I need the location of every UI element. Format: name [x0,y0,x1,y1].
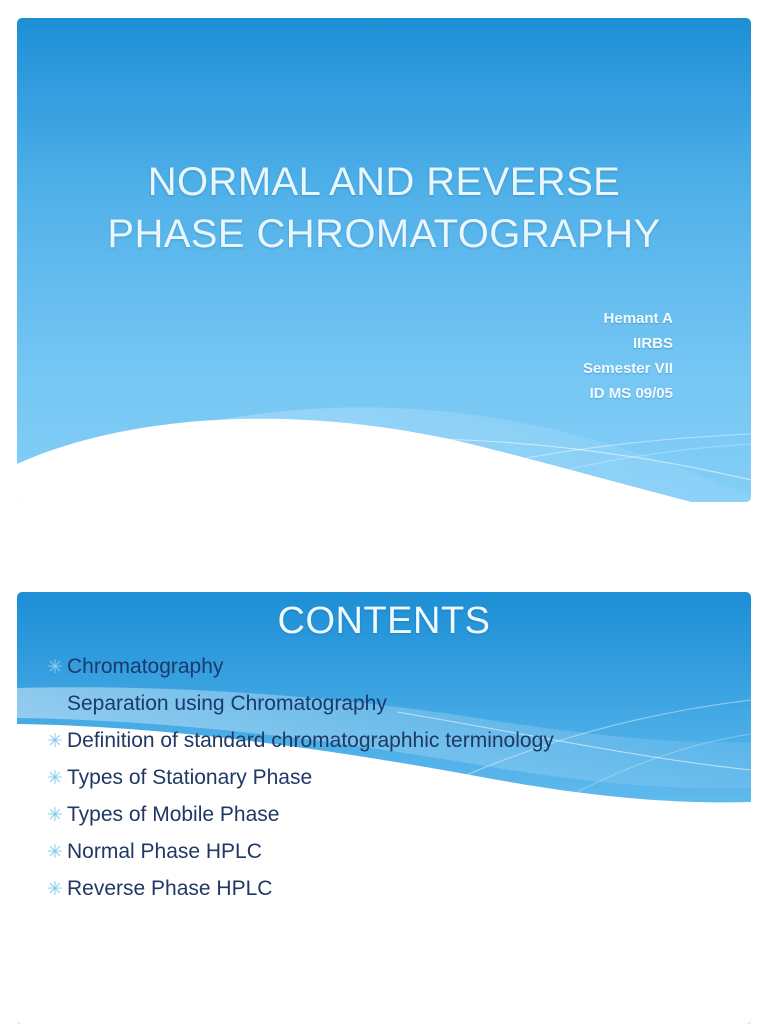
list-item-label: Reverse Phase HPLC [67,870,272,907]
asterisk-icon: ✳ [43,658,67,677]
asterisk-icon: ✳ [43,880,67,899]
document-page: NORMAL AND REVERSE PHASE CHROMATOGRAPHY … [0,0,768,1024]
list-item[interactable]: ✳ Reverse Phase HPLC [43,870,731,907]
author-institution: IIRBS [583,331,673,356]
list-item[interactable]: ✳ Normal Phase HPLC [43,833,731,870]
asterisk-icon: ✳ [43,843,67,862]
list-item-label: Chromatography [67,648,223,685]
author-info-block: Hemant A IIRBS Semester VII ID MS 09/05 [583,306,673,406]
list-item-label: Types of Mobile Phase [67,796,279,833]
asterisk-icon: ✳ [43,769,67,788]
contents-heading: CONTENTS [17,600,751,643]
list-item[interactable]: ✳ Types of Stationary Phase [43,759,731,796]
list-item[interactable]: ✳ Separation using Chromatography [43,685,731,722]
list-item-label: Types of Stationary Phase [67,759,312,796]
list-item[interactable]: ✳ Types of Mobile Phase [43,796,731,833]
contents-slide[interactable]: CONTENTS ✳ Chromatography ✳ Separation u… [17,592,751,1024]
asterisk-icon: ✳ [43,806,67,825]
author-name: Hemant A [583,306,673,331]
list-item-label: Definition of standard chromatographhic … [67,722,554,759]
list-item-label: Normal Phase HPLC [67,833,262,870]
title-slide-wave-decoration [17,18,751,502]
contents-list: ✳ Chromatography ✳ Separation using Chro… [43,648,731,907]
author-semester: Semester VII [583,356,673,381]
list-item[interactable]: ✳ Chromatography [43,648,731,685]
list-item-label: Separation using Chromatography [67,685,387,722]
title-line-2: PHASE CHROMATOGRAPHY [77,208,691,260]
title-line-1: NORMAL AND REVERSE [77,156,691,208]
list-item[interactable]: ✳ Definition of standard chromatographhi… [43,722,731,759]
author-id: ID MS 09/05 [583,381,673,406]
asterisk-icon: ✳ [43,695,67,714]
title-slide[interactable]: NORMAL AND REVERSE PHASE CHROMATOGRAPHY … [17,18,751,502]
title-text-block: NORMAL AND REVERSE PHASE CHROMATOGRAPHY [17,156,751,260]
asterisk-icon: ✳ [43,732,67,751]
